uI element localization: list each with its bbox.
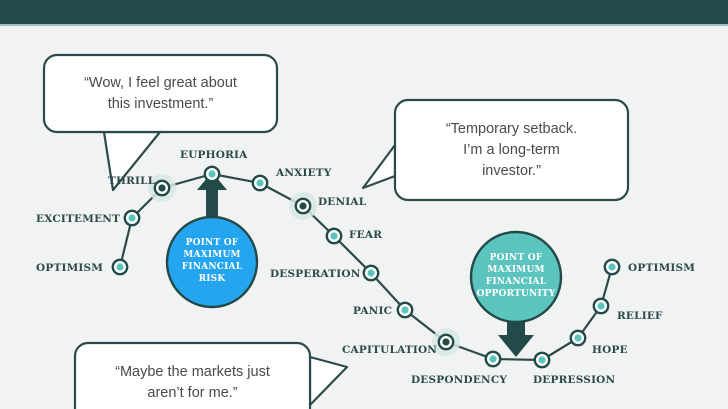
emotion-label: DENIAL — [318, 197, 366, 208]
emotion-label: OPTIMISM — [36, 263, 103, 274]
node-dot — [538, 356, 545, 363]
node-dot — [208, 170, 215, 177]
emotion-node[interactable] — [125, 211, 139, 225]
emotion-label: FEAR — [349, 230, 382, 241]
node-dot — [489, 355, 496, 362]
node-dot — [401, 306, 408, 313]
emotion-node[interactable] — [398, 303, 412, 317]
bubble-denial-text: “Temporary setback. I’m a long-term inve… — [395, 119, 628, 182]
node-dot — [158, 184, 165, 191]
bubble-capitulation-text: “Maybe the markets just aren’t for me.” — [75, 362, 310, 404]
max-risk-label: POINT OF MAXIMUM FINANCIAL RISK — [167, 238, 257, 286]
emotion-node[interactable] — [605, 260, 619, 274]
emotion-node[interactable] — [571, 331, 585, 345]
node-dot — [367, 269, 374, 276]
emotion-label: PANIC — [353, 306, 392, 317]
emotion-node[interactable] — [486, 352, 500, 366]
node-dot — [299, 202, 306, 209]
emotion-node[interactable] — [535, 353, 549, 367]
emotion-label: ANXIETY — [276, 168, 332, 179]
emotion-node[interactable] — [113, 260, 127, 274]
emotion-label: DESPERATION — [270, 269, 361, 280]
node-dot — [256, 179, 263, 186]
emotion-label: DEPRESSION — [533, 375, 615, 386]
emotion-label: DESPONDENCY — [411, 375, 507, 386]
node-dot — [116, 263, 123, 270]
emotion-label: OPTIMISM — [628, 263, 695, 274]
node-dot — [597, 302, 604, 309]
emotion-node[interactable] — [205, 167, 219, 181]
emotion-label: HOPE — [592, 345, 628, 356]
emotion-label: CAPITULATION — [342, 345, 437, 356]
emotion-label: RELIEF — [617, 311, 663, 322]
node-dot — [574, 334, 581, 341]
node-dot — [330, 232, 337, 239]
emotion-node[interactable] — [253, 176, 267, 190]
infographic-canvas: OPTIMISMEXCITEMENTTHRILLEUPHORIAANXIETYD… — [0, 0, 728, 409]
emotion-node[interactable] — [289, 192, 317, 220]
emotion-node[interactable] — [327, 229, 341, 243]
node-dot — [608, 263, 615, 270]
node-dot — [442, 338, 449, 345]
emotion-label: THRILL — [108, 176, 155, 187]
emotion-node[interactable] — [594, 299, 608, 313]
emotion-label: EUPHORIA — [180, 150, 248, 161]
bubble-tail — [363, 145, 395, 188]
bubble-tail — [310, 357, 347, 405]
max-opportunity-label: POINT OF MAXIMUM FINANCIAL OPPORTUNITY — [471, 253, 561, 301]
bubble-euphoria-text: “Wow, I feel great about this investment… — [44, 73, 277, 115]
emotion-label: EXCITEMENT — [36, 214, 120, 225]
emotion-node[interactable] — [364, 266, 378, 280]
node-dot — [128, 214, 135, 221]
